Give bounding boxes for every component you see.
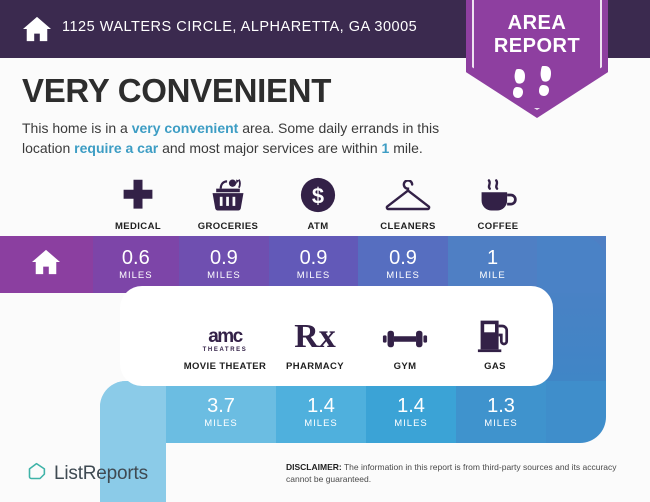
amenity-icon-row-2: amc THEATRES MOVIE THEATER Rx PHARMACY [180,312,630,372]
amenity-medical: MEDICAL [93,172,183,232]
distance-value: 0.6 [122,248,150,268]
amc-subtext: THEATRES [203,346,248,354]
amc-theatres-logo: amc THEATRES [203,312,248,354]
distance-unit: MILES [297,270,331,281]
amenity-label: GYM [394,361,417,372]
amenity-label: GROCERIES [198,221,259,232]
distance-cell-atm: 0.9 MILES [269,236,359,293]
grocery-basket-icon [208,172,248,214]
listreports-logo[interactable]: ListReports [26,461,148,487]
badge-line-2: REPORT [466,35,608,58]
dumbbell-icon [382,312,428,354]
amenity-gym: GYM [360,312,450,372]
distance-cell-gym: 1.4 MILES [366,381,456,443]
distance-row-1: 0.6 MILES 0.9 MILES 0.9 MILES 0.9 MILES … [0,236,606,293]
summary-part-4: mile. [389,140,422,156]
home-icon [22,15,52,43]
ribbon-row1-tail [537,236,606,293]
property-address: 1125 WALTERS CIRCLE, ALPHARETTA, GA 3000… [62,19,417,35]
distance-cell-groceries: 0.9 MILES [179,236,269,293]
badge-label: AREA REPORT [466,12,608,58]
distance-value: 0.9 [210,248,238,268]
distance-unit: MILES [394,418,428,429]
distance-cell-gas: 1.3 MILES [456,381,546,443]
disclaimer-label: DISCLAIMER: [286,462,342,472]
amenity-label: CLEANERS [380,221,435,232]
distance-cell-movie-theater: 3.7 MILES [166,381,276,443]
summary-part-3: and most major services are within [158,140,381,156]
distance-value: 3.7 [207,396,235,416]
amenity-label: MEDICAL [115,221,161,232]
amenity-label: COFFEE [478,221,519,232]
distance-cell-cleaners: 0.9 MILES [358,236,448,293]
distance-unit: MILES [304,418,338,429]
amenity-movie-theater: amc THEATRES MOVIE THEATER [180,312,270,372]
amenity-pharmacy: Rx PHARMACY [270,312,360,372]
page-title: VERY CONVENIENT [22,72,331,110]
amenity-label: MOVIE THEATER [184,361,267,372]
gas-pump-icon [477,312,513,354]
distance-unit: MILES [386,270,420,281]
area-report-infographic: 1125 WALTERS CIRCLE, ALPHARETTA, GA 3000… [0,0,650,502]
disclaimer: DISCLAIMER: The information in this repo… [286,462,638,485]
home-marker-cell [0,236,93,293]
distance-unit: MILES [207,270,241,281]
ribbon-row2-tail [546,381,606,443]
amenity-label: PHARMACY [286,361,344,372]
distance-value: 1.4 [307,396,335,416]
coffee-cup-icon [477,172,519,214]
distance-cell-pharmacy: 1.4 MILES [276,381,366,443]
rx-glyph: Rx [294,320,336,354]
footprints-icon [505,66,569,100]
amenity-groceries: GROCERIES [183,172,273,232]
svg-text:$: $ [312,184,324,209]
distance-value: 0.9 [389,248,417,268]
clothes-hanger-icon [384,172,432,214]
distance-value: 0.9 [300,248,328,268]
distance-value: 1.3 [487,396,515,416]
dollar-circle-icon: $ [299,172,337,214]
summary-text: This home is in a very convenient area. … [22,118,482,158]
amenity-atm: $ ATM [273,172,363,232]
summary-part-1: This home is in a [22,120,132,136]
distance-unit: MILES [119,270,153,281]
amenity-icon-row-1: MEDICAL GROCERIES [93,172,633,232]
home-icon [31,248,61,281]
amc-wordmark: amc [208,328,242,345]
rx-icon: Rx [294,312,336,354]
medical-cross-icon [120,172,156,214]
badge-line-1: AREA [466,12,608,35]
distance-value: 1 [487,248,498,268]
distance-row-2: 3.7 MILES 1.4 MILES 1.4 MILES 1.3 MILES [100,381,606,443]
ribbon-row2-head [100,381,166,443]
distance-cell-medical: 0.6 MILES [93,236,180,293]
summary-highlight-1: very convenient [132,120,239,136]
distance-unit: MILES [484,418,518,429]
listreports-house-icon [26,461,47,487]
distance-cell-coffee: 1 MILE [448,236,538,293]
amenity-gas: GAS [450,312,540,372]
summary-highlight-2: require a car [74,140,158,156]
listreports-wordmark: ListReports [54,463,148,485]
distance-value: 1.4 [397,396,425,416]
amenity-cleaners: CLEANERS [363,172,453,232]
amenity-coffee: COFFEE [453,172,543,232]
amenity-label: GAS [484,361,506,372]
amenity-label: ATM [307,221,328,232]
distance-unit: MILES [204,418,238,429]
distance-unit: MILE [480,270,506,281]
